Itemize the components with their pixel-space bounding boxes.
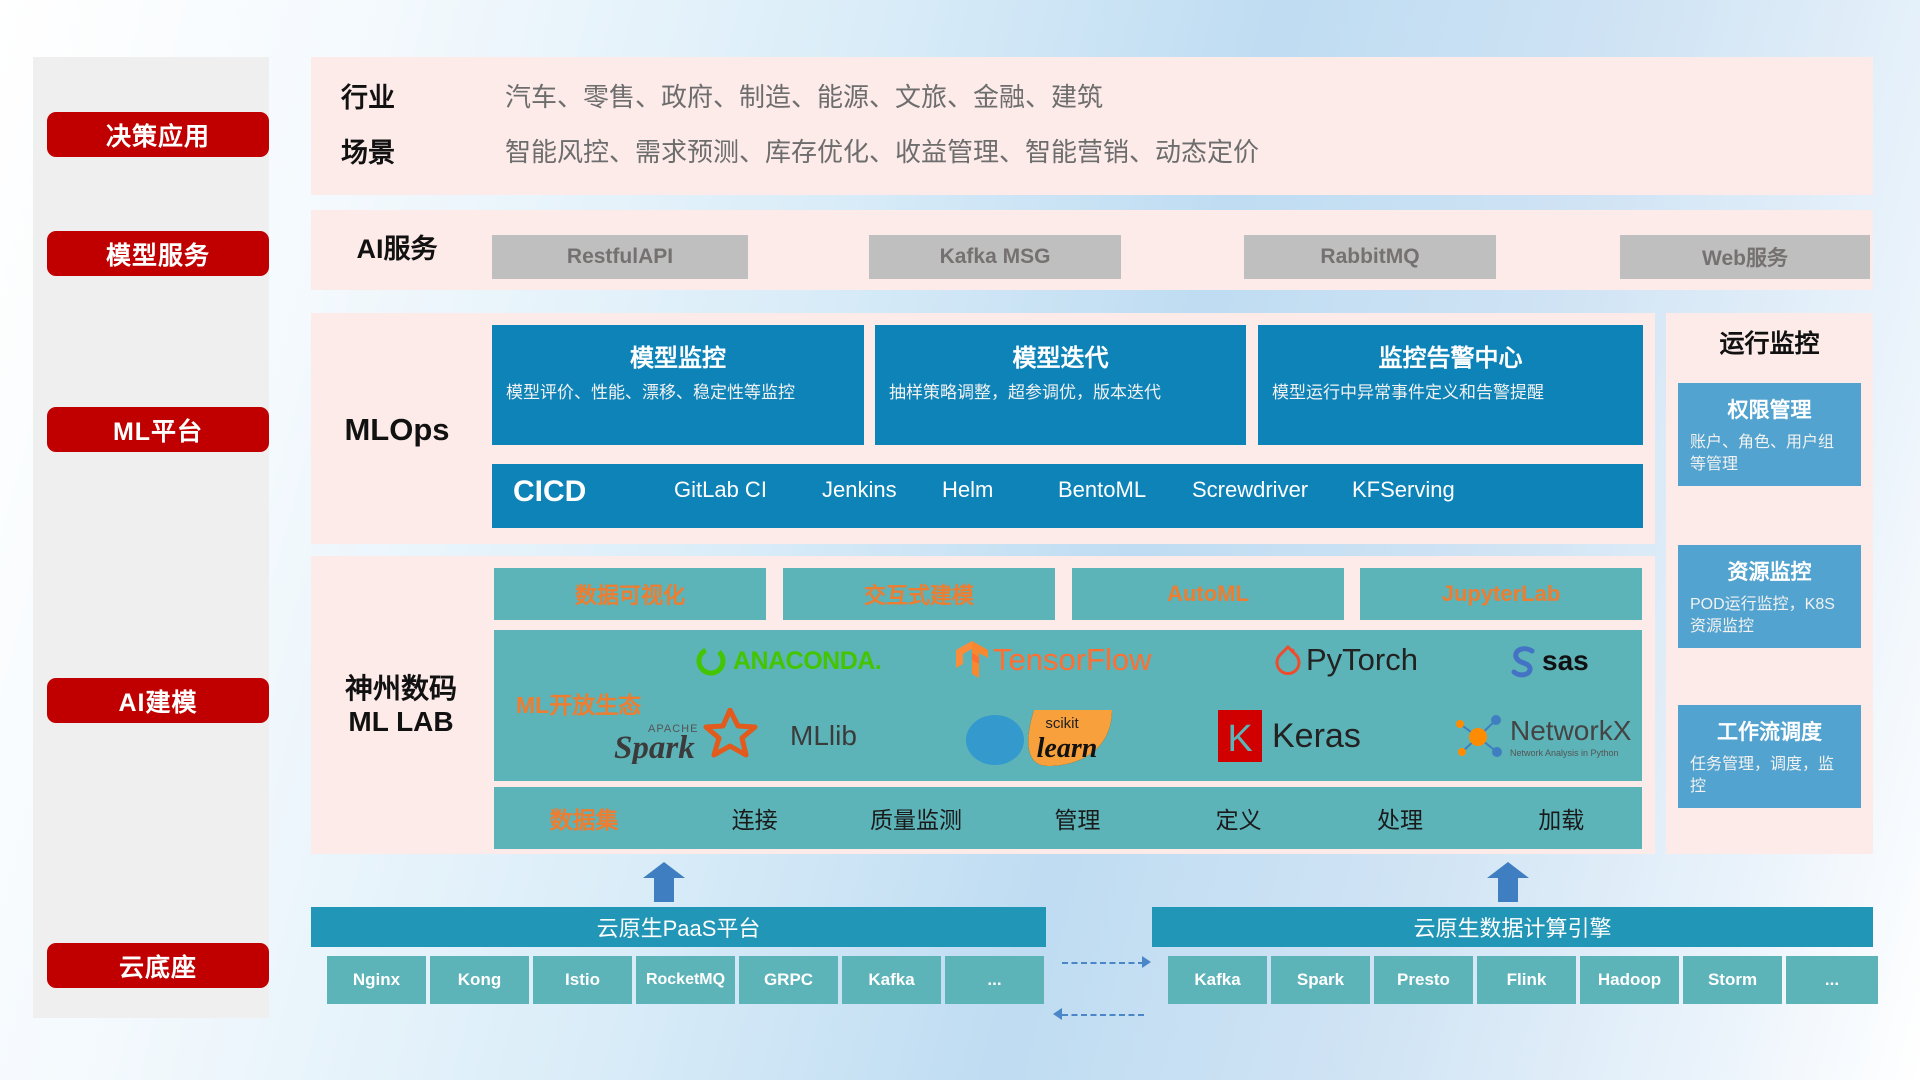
sidebar-item-ai-modeling[interactable]: AI建模 (47, 678, 269, 723)
dashed-connector-bottom (1062, 1014, 1144, 1016)
keras-mark: K (1216, 708, 1264, 764)
chip-flink[interactable]: Flink (1477, 956, 1576, 1004)
monitoring-card-workflow[interactable]: 工作流调度 任务管理，调度，监控 (1678, 705, 1861, 808)
card-desc: 抽样策略调整，超参调优，版本迭代 (889, 382, 1232, 404)
chip-istio[interactable]: Istio (533, 956, 632, 1004)
dataset-item-manage[interactable]: 管理 (997, 801, 1158, 835)
dashed-arrow-head-right (1142, 956, 1151, 968)
networkx-logo: NetworkX Network Analysis in Python (1452, 712, 1631, 762)
card-desc: 任务管理，调度，监控 (1690, 754, 1849, 797)
sidebar-item-decision-application[interactable]: 决策应用 (47, 112, 269, 157)
sidebar-item-label: ML平台 (113, 412, 203, 448)
anaconda-mark (694, 644, 728, 678)
arrow-up-right (1487, 862, 1529, 902)
cicd-item-jenkins[interactable]: Jenkins (822, 476, 922, 504)
service-web[interactable]: Web服务 (1620, 235, 1870, 279)
arrow-up-left (643, 862, 685, 902)
service-rabbitmq[interactable]: RabbitMQ (1244, 235, 1496, 279)
dashed-arrow-head-left (1053, 1008, 1062, 1020)
svg-text:K: K (1227, 718, 1252, 760)
cicd-item-gitlab-ci[interactable]: GitLab CI (674, 476, 804, 504)
cicd-item-bentoml[interactable]: BentoML (1058, 476, 1158, 504)
sas-logo: sas (1506, 644, 1589, 678)
card-title: 模型监控 (492, 338, 864, 373)
sas-mark (1506, 644, 1540, 678)
scenario-key: 场景 (341, 131, 451, 170)
cloud-paas-bar[interactable]: 云原生PaaS平台 (311, 907, 1046, 947)
ai-service-label: AI服务 (322, 222, 472, 278)
networkx-wordmark: NetworkX (1510, 717, 1631, 745)
industry-value: 汽车、零售、政府、制造、能源、文旅、金融、建筑 (505, 77, 1103, 114)
cicd-title: CICD (513, 475, 586, 509)
keras-wordmark: Keras (1272, 717, 1361, 756)
mlops-card-alert-center[interactable]: 监控告警中心 模型运行中异常事件定义和告警提醒 (1258, 325, 1643, 445)
sidebar-item-cloud-foundation[interactable]: 云底座 (47, 943, 269, 988)
industry-key: 行业 (341, 76, 451, 115)
sidebar-item-label: AI建模 (118, 683, 197, 719)
keras-logo: K Keras (1216, 708, 1361, 764)
tensorflow-wordmark: TensorFlow (993, 642, 1152, 678)
sidebar-item-model-service[interactable]: 模型服务 (47, 231, 269, 276)
chip-kong[interactable]: Kong (430, 956, 529, 1004)
cicd-item-kfserving[interactable]: KFServing (1352, 476, 1472, 504)
monitoring-card-resource[interactable]: 资源监控 POD运行监控，K8S资源监控 (1678, 545, 1861, 648)
chip-spark[interactable]: Spark (1271, 956, 1370, 1004)
card-desc: 模型评价、性能、漂移、稳定性等监控 (506, 382, 850, 404)
mlops-card-model-iteration[interactable]: 模型迭代 抽样策略调整，超参调优，版本迭代 (875, 325, 1246, 445)
card-desc: 账户、角色、用户组等管理 (1690, 432, 1849, 475)
pytorch-wordmark: PyTorch (1306, 642, 1418, 678)
spark-mark: APACHE Spark (612, 708, 782, 764)
networkx-mark (1452, 712, 1506, 762)
service-kafka-msg[interactable]: Kafka MSG (869, 235, 1121, 279)
chip-hadoop[interactable]: Hadoop (1580, 956, 1679, 1004)
card-title: 权限管理 (1678, 394, 1861, 424)
mlops-label: MLOps (322, 385, 472, 475)
architecture-diagram: 决策应用 模型服务 ML平台 AI建模 云底座 行业 汽车、零售、政府、制造、能… (0, 0, 1920, 1080)
ml-ecosystem-box: ML开放生态 ANACONDA. TensorFlow PyTorch (494, 630, 1642, 781)
card-desc: POD运行监控，K8S资源监控 (1690, 594, 1849, 637)
scikit-learn-mark: scikit learn (962, 702, 1142, 770)
card-title: 资源监控 (1678, 556, 1861, 586)
sidebar-item-ml-platform[interactable]: ML平台 (47, 407, 269, 452)
service-restfulapi[interactable]: RestfulAPI (492, 235, 748, 279)
tool-interactive-modeling[interactable]: 交互式建模 (783, 568, 1055, 620)
left-rail (33, 57, 269, 1018)
chip-nginx[interactable]: Nginx (327, 956, 426, 1004)
card-title: 监控告警中心 (1258, 338, 1643, 373)
scenario-value: 智能风控、需求预测、库存优化、收益管理、智能营销、动态定价 (505, 132, 1259, 169)
dataset-item-quality-monitor[interactable]: 质量监测 (835, 801, 996, 835)
card-desc: 模型运行中异常事件定义和告警提醒 (1272, 382, 1629, 404)
sidebar-item-label: 模型服务 (106, 236, 210, 272)
cicd-bar: CICD GitLab CI Jenkins Helm BentoML Scre… (492, 464, 1643, 528)
dashed-connector-top (1062, 962, 1144, 964)
ml-lab-label-line1: 神州数码 (345, 672, 457, 705)
card-title: 工作流调度 (1678, 716, 1861, 746)
cloud-data-engine-bar[interactable]: 云原生数据计算引擎 (1152, 907, 1873, 947)
dataset-item-process[interactable]: 处理 (1319, 801, 1480, 835)
dataset-title: 数据集 (494, 801, 674, 835)
anaconda-logo: ANACONDA. (694, 644, 881, 678)
scikit-learn-logo: scikit learn (962, 702, 1142, 770)
sas-wordmark: sas (1542, 645, 1589, 677)
tensorflow-logo: TensorFlow (954, 640, 1152, 680)
tool-jupyterlab[interactable]: JupyterLab (1360, 568, 1642, 620)
cicd-item-screwdriver[interactable]: Screwdriver (1192, 476, 1312, 504)
mllib-wordmark: MLlib (790, 720, 857, 752)
chip-more-left[interactable]: ... (945, 956, 1044, 1004)
card-title: 模型迭代 (875, 338, 1246, 373)
pytorch-mark (1274, 643, 1302, 677)
dataset-bar: 数据集 连接 质量监测 管理 定义 处理 加载 (494, 787, 1642, 849)
chip-storm[interactable]: Storm (1683, 956, 1782, 1004)
sidebar-item-label: 决策应用 (106, 117, 210, 153)
svg-text:Spark: Spark (614, 730, 695, 764)
sidebar-item-label: 云底座 (119, 948, 197, 984)
svg-text:learn: learn (1037, 733, 1098, 764)
mlops-card-model-monitoring[interactable]: 模型监控 模型评价、性能、漂移、稳定性等监控 (492, 325, 864, 445)
dataset-item-connect[interactable]: 连接 (674, 801, 835, 835)
networkx-tagline: Network Analysis in Python (1510, 748, 1631, 758)
pytorch-logo: PyTorch (1274, 642, 1418, 678)
tensorflow-mark (954, 640, 990, 680)
tool-data-visualization[interactable]: 数据可视化 (494, 568, 766, 620)
spark-mllib-logo: APACHE Spark MLlib (612, 708, 857, 764)
chip-grpc[interactable]: GRPC (739, 956, 838, 1004)
chip-rocketmq[interactable]: RocketMQ (636, 956, 735, 1004)
chip-kafka-right[interactable]: Kafka (1168, 956, 1267, 1004)
ml-lab-label: 神州数码 ML LAB (317, 660, 485, 750)
monitoring-card-permission[interactable]: 权限管理 账户、角色、用户组等管理 (1678, 383, 1861, 486)
ml-lab-label-line2: ML LAB (348, 705, 453, 738)
svg-text:scikit: scikit (1045, 715, 1079, 732)
dataset-item-define[interactable]: 定义 (1158, 801, 1319, 835)
chip-kafka-left[interactable]: Kafka (842, 956, 941, 1004)
cicd-item-helm[interactable]: Helm (942, 476, 1042, 504)
chip-presto[interactable]: Presto (1374, 956, 1473, 1004)
chip-more-right[interactable]: ... (1786, 956, 1878, 1004)
dataset-item-load[interactable]: 加载 (1481, 801, 1642, 835)
monitoring-title: 运行监控 (1666, 325, 1873, 365)
tool-automl[interactable]: AutoML (1072, 568, 1344, 620)
anaconda-wordmark: ANACONDA. (733, 647, 881, 676)
